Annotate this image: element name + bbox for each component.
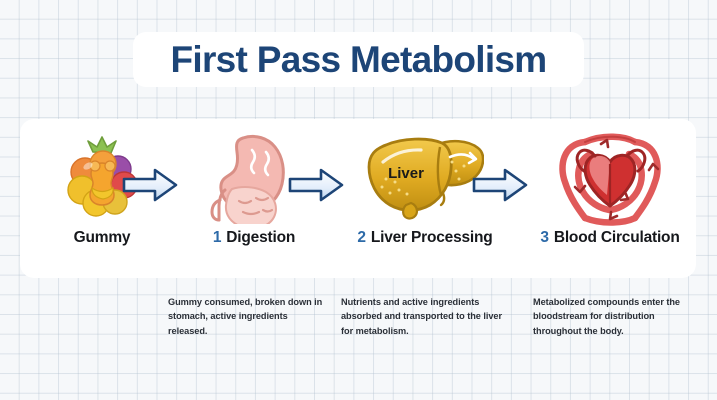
stage-number-digestion: 1: [213, 229, 221, 246]
stage-description-liver: Nutrients and active ingredients absorbe…: [341, 295, 513, 338]
heart-circulation-icon: [530, 129, 690, 227]
title-banner: First Pass Metabolism: [133, 32, 584, 87]
arrow-liver-to-blood: [472, 168, 528, 202]
stage-description-blood-circulation: Metabolized compounds enter the bloodstr…: [533, 295, 701, 338]
page-title: First Pass Metabolism: [171, 41, 547, 78]
stage-title-digestion: Digestion: [226, 229, 295, 246]
stage-number-liver: 2: [357, 229, 365, 246]
infographic-canvas: First Pass Metabolism: [0, 0, 717, 400]
flow-stage-blood-circulation[interactable]: 3Blood Circulation: [530, 129, 690, 269]
liver-icon-caption: Liver: [388, 165, 424, 182]
stage-title-liver: Liver Processing: [371, 229, 493, 246]
stage-description-digestion: Gummy consumed, broken down in stomach, …: [168, 295, 323, 338]
arrow-digestion-to-liver: [288, 168, 344, 202]
stage-label-gummy: Gummy: [42, 229, 162, 247]
stage-label-blood-circulation: 3Blood Circulation: [530, 229, 690, 247]
stage-title-blood-circulation: Blood Circulation: [554, 229, 680, 246]
stage-label-digestion: 1Digestion: [188, 229, 320, 247]
arrow-gummy-to-digestion: [122, 168, 178, 202]
stage-title-gummy: Gummy: [74, 229, 131, 246]
stage-label-liver: 2Liver Processing: [350, 229, 500, 247]
stage-number-blood-circulation: 3: [540, 229, 548, 246]
